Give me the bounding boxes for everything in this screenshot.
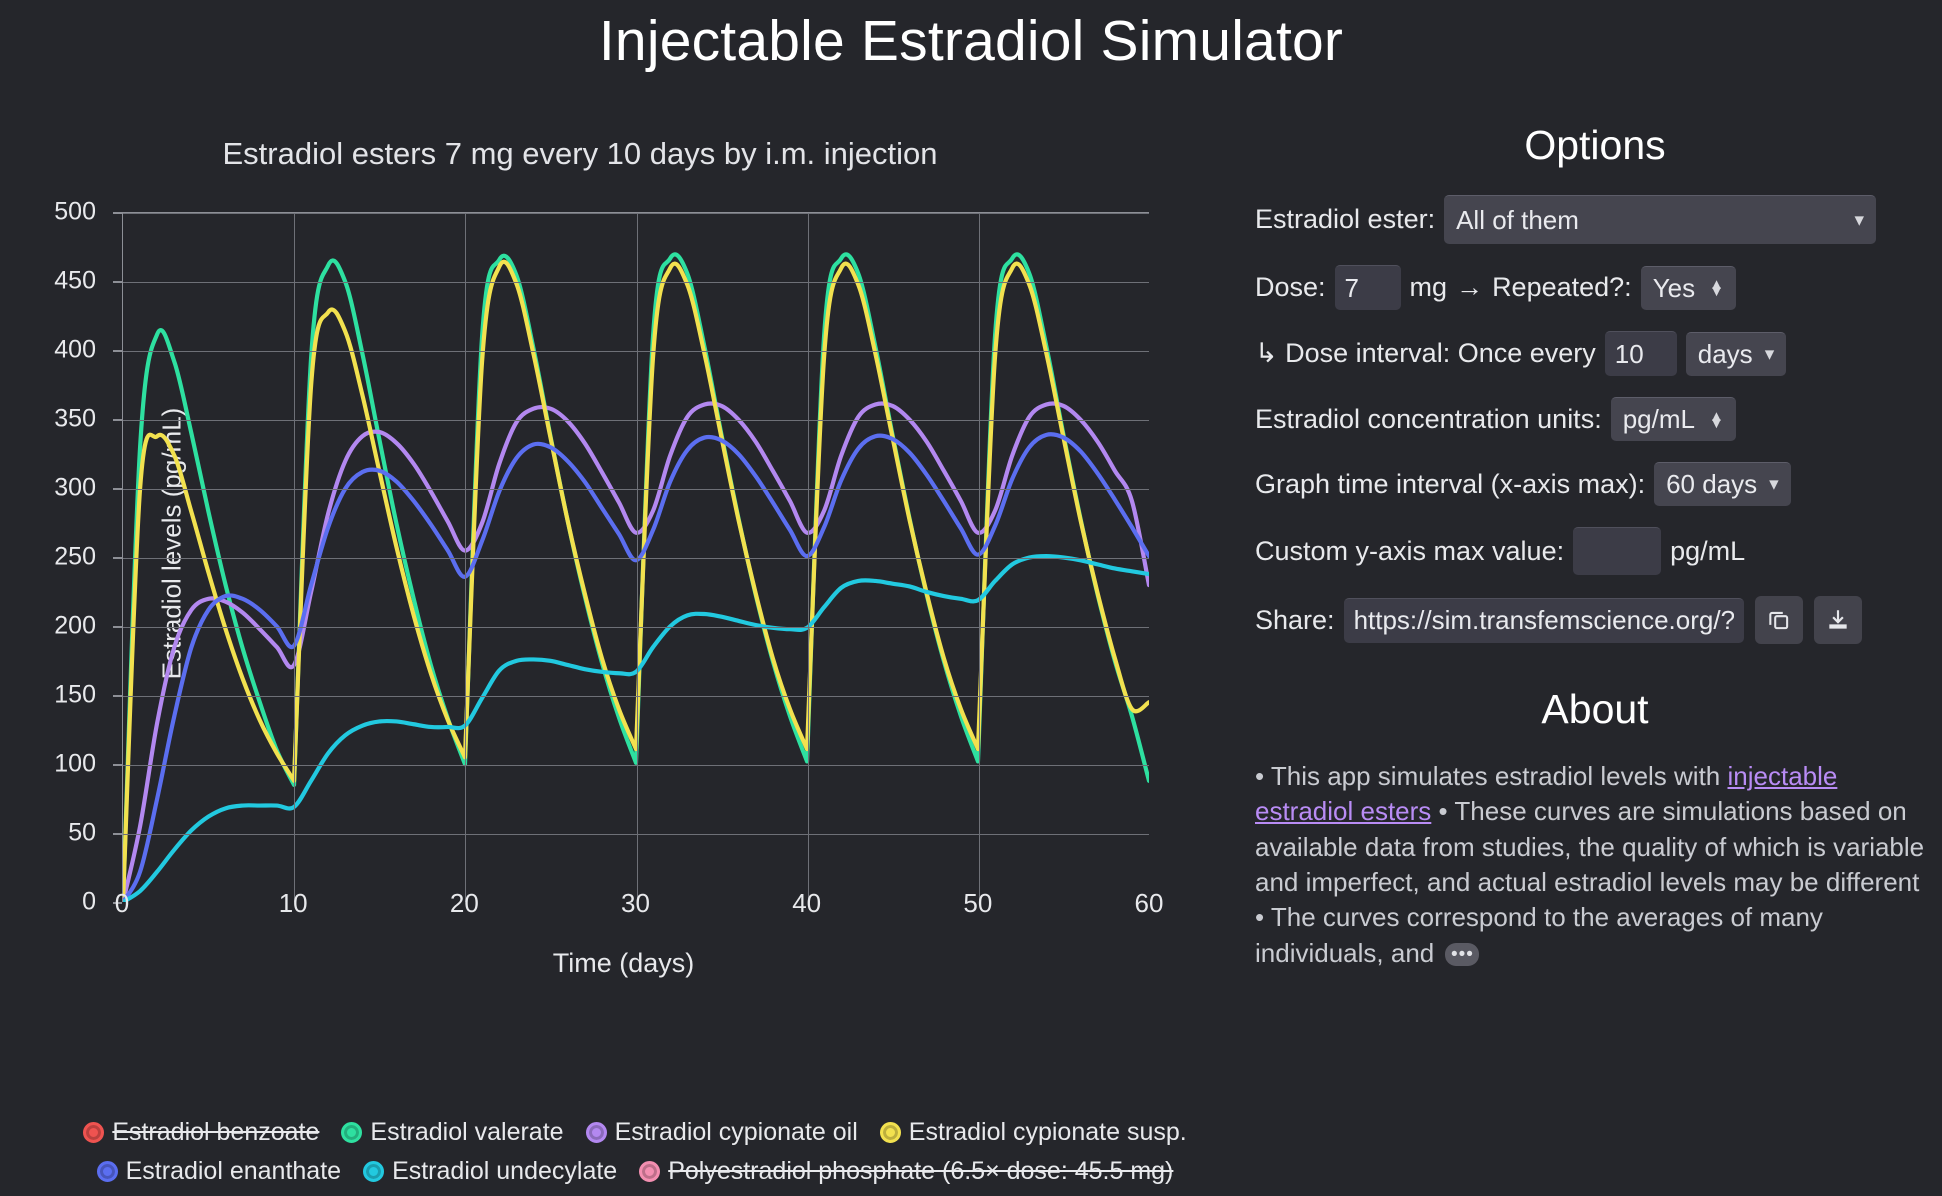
legend-row: Estradiol benzoateEstradiol valerateEstr… bbox=[90, 1118, 1180, 1147]
dose-interval-input[interactable] bbox=[1605, 331, 1677, 376]
chart-panel: Estradiol esters 7 mg every 10 days by i… bbox=[0, 120, 1180, 1090]
dose-interval-row: ↳ Dose interval: Once every days ▾ bbox=[1255, 331, 1935, 376]
legend-color-swatch bbox=[363, 1161, 384, 1182]
y-axis-tick-label: 50 bbox=[0, 819, 96, 848]
x-axis-tick-label: 50 bbox=[963, 888, 992, 919]
units-row: Estradiol concentration units: pg/mL ▲▼ bbox=[1255, 397, 1935, 441]
concentration-units-value: pg/mL bbox=[1623, 404, 1695, 435]
legend-item-label: Estradiol valerate bbox=[370, 1118, 563, 1147]
options-heading: Options bbox=[1255, 122, 1935, 169]
gridline-vertical bbox=[979, 213, 980, 902]
legend-row: Estradiol enanthateEstradiol undecylateP… bbox=[90, 1157, 1180, 1186]
y-axis-tick-label: 450 bbox=[0, 267, 96, 296]
y-axis-tick-label: 500 bbox=[0, 198, 96, 227]
legend-item-label: Estradiol enanthate bbox=[126, 1157, 341, 1186]
legend-item-label: Estradiol cypionate oil bbox=[615, 1118, 858, 1147]
y-axis-tick-mark bbox=[113, 419, 122, 421]
x-axis-tick-label: 0 bbox=[115, 888, 129, 919]
plot-inner bbox=[123, 213, 1149, 902]
stepper-arrows-icon: ▲▼ bbox=[1709, 413, 1724, 427]
legend-item[interactable]: Estradiol cypionate oil bbox=[586, 1118, 858, 1147]
y-axis-tick-mark bbox=[113, 350, 122, 352]
legend-item[interactable]: Estradiol valerate bbox=[341, 1118, 563, 1147]
x-axis-tick-label: 40 bbox=[792, 888, 821, 919]
estradiol-ester-value: All of them bbox=[1456, 205, 1579, 236]
gridline-vertical bbox=[637, 213, 638, 902]
graph-time-interval-value: 60 days bbox=[1666, 469, 1757, 500]
legend-item[interactable]: Estradiol enanthate bbox=[97, 1157, 341, 1186]
options-panel: Options Estradiol ester: All of them ▾ D… bbox=[1255, 122, 1935, 971]
app-root: Injectable Estradiol Simulator Estradiol… bbox=[0, 0, 1942, 1091]
download-button[interactable] bbox=[1814, 596, 1862, 644]
legend-color-swatch bbox=[880, 1122, 901, 1143]
y-axis-tick-label: 350 bbox=[0, 405, 96, 434]
y-axis-tick-mark bbox=[113, 488, 122, 490]
legend-item[interactable]: Estradiol benzoate bbox=[83, 1118, 319, 1147]
arrow-right-icon: → bbox=[1456, 272, 1483, 303]
stepper-arrows-icon: ▲▼ bbox=[1709, 281, 1724, 295]
share-url-input[interactable] bbox=[1344, 598, 1744, 643]
ester-row: Estradiol ester: All of them ▾ bbox=[1255, 195, 1935, 244]
x-axis-tick-label: 60 bbox=[1135, 888, 1164, 919]
page-title: Injectable Estradiol Simulator bbox=[0, 8, 1942, 74]
gridline-vertical bbox=[465, 213, 466, 902]
x-axis-tick-label: 20 bbox=[450, 888, 479, 919]
x-axis-tick-label: 10 bbox=[279, 888, 308, 919]
custom-ymax-unit-label: pg/mL bbox=[1670, 536, 1745, 567]
y-axis-tick-label: 200 bbox=[0, 612, 96, 641]
legend-color-swatch bbox=[341, 1122, 362, 1143]
gridline-vertical bbox=[808, 213, 809, 902]
ester-label: Estradiol ester: bbox=[1255, 204, 1435, 235]
y-axis-tick-mark bbox=[113, 281, 122, 283]
chevron-down-icon: ▾ bbox=[1769, 475, 1779, 494]
copy-icon bbox=[1766, 607, 1792, 633]
legend-item-label: Estradiol cypionate susp. bbox=[909, 1118, 1187, 1147]
share-label: Share: bbox=[1255, 605, 1335, 636]
legend-item[interactable]: Polyestradiol phosphate (6.5× dose: 45.5… bbox=[639, 1157, 1173, 1186]
y-axis-tick-mark bbox=[113, 557, 122, 559]
legend-color-swatch bbox=[586, 1122, 607, 1143]
legend-color-swatch bbox=[97, 1161, 118, 1182]
gridline-vertical bbox=[294, 213, 295, 902]
y-axis-tick-label: 300 bbox=[0, 474, 96, 503]
y-axis-tick-label: 0 bbox=[0, 888, 96, 917]
estradiol-ester-select[interactable]: All of them ▾ bbox=[1444, 195, 1876, 244]
plot-wrapper: Estradiol levels (pg/mL) 050100150200250… bbox=[110, 188, 1140, 1018]
y-axis-tick-mark bbox=[113, 695, 122, 697]
plot-area bbox=[122, 212, 1149, 902]
download-icon bbox=[1825, 607, 1851, 633]
chevron-down-icon: ▾ bbox=[1765, 345, 1775, 364]
y-axis-tick-label: 150 bbox=[0, 681, 96, 710]
legend-color-swatch bbox=[83, 1122, 104, 1143]
legend-item-label: Estradiol benzoate bbox=[112, 1118, 319, 1147]
y-axis-tick-mark bbox=[113, 833, 122, 835]
repeated-select[interactable]: Yes ▲▼ bbox=[1641, 266, 1736, 310]
graph-time-interval-row: Graph time interval (x-axis max): 60 day… bbox=[1255, 462, 1935, 506]
y-axis-tick-mark bbox=[113, 212, 122, 214]
about-text: • This app simulates estradiol levels wi… bbox=[1255, 759, 1935, 971]
share-row: Share: bbox=[1255, 596, 1935, 644]
dose-interval-unit-value: days bbox=[1698, 339, 1753, 370]
dose-input[interactable] bbox=[1335, 265, 1401, 310]
graph-time-interval-select[interactable]: 60 days ▾ bbox=[1654, 462, 1791, 506]
dose-label: Dose: bbox=[1255, 272, 1326, 303]
custom-ymax-label: Custom y-axis max value: bbox=[1255, 536, 1564, 567]
about-more-button[interactable]: ••• bbox=[1445, 943, 1479, 966]
custom-ymax-input[interactable] bbox=[1573, 527, 1661, 575]
dose-interval-unit-select[interactable]: days ▾ bbox=[1686, 332, 1786, 376]
concentration-units-select[interactable]: pg/mL ▲▼ bbox=[1611, 397, 1736, 441]
repeated-value: Yes bbox=[1653, 273, 1695, 304]
legend-item[interactable]: Estradiol undecylate bbox=[363, 1157, 617, 1186]
legend-color-swatch bbox=[639, 1161, 660, 1182]
graph-time-interval-label: Graph time interval (x-axis max): bbox=[1255, 469, 1645, 500]
dose-interval-label: ↳ Dose interval: Once every bbox=[1255, 338, 1596, 369]
dose-row: Dose: mg → Repeated?: Yes ▲▼ bbox=[1255, 265, 1935, 310]
custom-ymax-row: Custom y-axis max value: pg/mL bbox=[1255, 527, 1935, 575]
chart-title: Estradiol esters 7 mg every 10 days by i… bbox=[0, 136, 1160, 172]
x-axis-tick-label: 30 bbox=[621, 888, 650, 919]
y-axis-tick-mark bbox=[113, 626, 122, 628]
units-label: Estradiol concentration units: bbox=[1255, 404, 1602, 435]
y-axis-tick-label: 250 bbox=[0, 543, 96, 572]
y-axis-tick-label: 400 bbox=[0, 336, 96, 365]
about-text-before: • This app simulates estradiol levels wi… bbox=[1255, 761, 1728, 791]
repeated-label: Repeated?: bbox=[1492, 272, 1632, 303]
y-axis-tick-label: 100 bbox=[0, 750, 96, 779]
dose-unit-label: mg bbox=[1410, 272, 1448, 303]
legend-item[interactable]: Estradiol cypionate susp. bbox=[880, 1118, 1187, 1147]
chevron-down-icon: ▾ bbox=[1855, 211, 1865, 230]
chart-legend: Estradiol benzoateEstradiol valerateEstr… bbox=[90, 1118, 1180, 1196]
copy-link-button[interactable] bbox=[1755, 596, 1803, 644]
x-axis-label: Time (days) bbox=[110, 948, 1137, 979]
about-heading: About bbox=[1255, 686, 1935, 733]
legend-item-label: Estradiol undecylate bbox=[392, 1157, 617, 1186]
y-axis-tick-mark bbox=[113, 764, 122, 766]
legend-item-label: Polyestradiol phosphate (6.5× dose: 45.5… bbox=[668, 1157, 1173, 1186]
